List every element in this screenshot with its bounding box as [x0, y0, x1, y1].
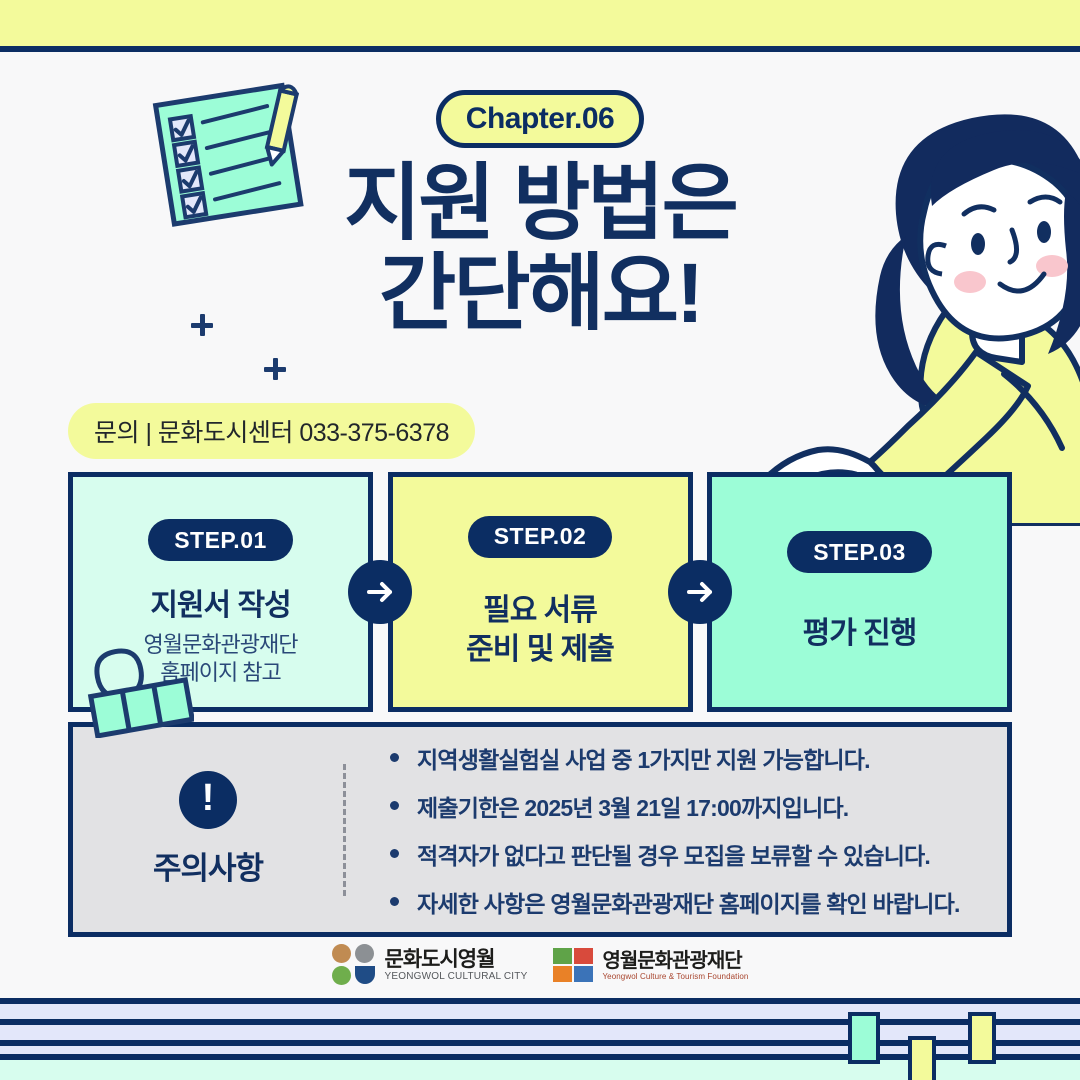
bullet-dot-icon [390, 801, 399, 810]
binder-clip-icon [84, 638, 194, 738]
foundation-logo-mark-icon [553, 948, 593, 982]
page-title: 지원 방법은 간단해요! [0, 162, 1080, 335]
bullet-dot-icon [390, 849, 399, 858]
bottom-decorative-bars [0, 998, 1080, 1080]
step-card-3: STEP.03 평가 진행 [707, 472, 1012, 712]
logo-a-name-en: YEONGWOL CULTURAL CITY [385, 971, 528, 982]
list-item: 적격자가 없다고 판단될 경우 모집을 보류할 수 있습니다. [390, 837, 1007, 871]
bottom-rule [0, 998, 1080, 1004]
notice-heading-group: ! 주의사항 [73, 771, 343, 888]
notice-bullet-text: 제출기한은 2025년 3월 21일 17:00까지입니다. [417, 789, 848, 823]
title-line-2: 간단해요! [0, 252, 1080, 334]
bottom-rule [0, 1019, 1080, 1025]
bottom-chip-yellow [908, 1036, 936, 1080]
step-card-2: STEP.02 필요 서류 준비 및 제출 [388, 472, 693, 712]
step-2-title-line-1: 필요 서류 [483, 592, 597, 630]
bottom-band [0, 1004, 1080, 1019]
logo-b-name-en: Yeongwol Culture & Tourism Foundation [602, 972, 748, 981]
list-item: 제출기한은 2025년 3월 21일 17:00까지입니다. [390, 789, 1007, 823]
step-3-title: 평가 진행 [803, 615, 917, 653]
logo-a-text: 문화도시영월 YEONGWOL CULTURAL CITY [385, 948, 528, 982]
notice-bullet-text: 적격자가 없다고 판단될 경우 모집을 보류할 수 있습니다. [417, 837, 930, 871]
step-3-badge: STEP.03 [787, 531, 932, 573]
logo-b-text: 영월문화관광재단 Yeongwol Culture & Tourism Foun… [602, 950, 748, 981]
chapter-badge: Chapter.06 [436, 90, 644, 148]
notice-bullet-list: 지역생활실험실 사업 중 1가지만 지원 가능합니다. 제출기한은 2025년 … [346, 727, 1007, 933]
list-item: 지역생활실험실 사업 중 1가지만 지원 가능합니다. [390, 741, 1007, 775]
poster-canvas: Chapter.06 지원 방법은 간단해요! 문의 | 문화도시센터 033-… [0, 0, 1080, 1080]
logo-yeongwol-foundation: 영월문화관광재단 Yeongwol Culture & Tourism Foun… [553, 948, 748, 982]
bullet-dot-icon [390, 897, 399, 906]
notice-bullet-text: 지역생활실험실 사업 중 1가지만 지원 가능합니다. [417, 741, 870, 775]
top-accent-bar [0, 0, 1080, 52]
step-2-badge: STEP.02 [468, 516, 613, 558]
step-2-title-line-2: 준비 및 제출 [466, 631, 614, 669]
bottom-chip-mint [848, 1012, 880, 1064]
notice-bullet-text: 자세한 사항은 영월문화관광재단 홈페이지를 확인 바랍니다. [417, 885, 960, 919]
title-line-1: 지원 방법은 [0, 162, 1080, 244]
logo-yeongwol-cultural-city: 문화도시영월 YEONGWOL CULTURAL CITY [332, 944, 528, 986]
step-1-badge: STEP.01 [148, 519, 293, 561]
steps-row: STEP.01 지원서 작성 영월문화관광재단 홈페이지 참고 STEP.02 … [68, 472, 1012, 712]
logo-b-name-ko: 영월문화관광재단 [602, 950, 748, 972]
notice-label: 주의사항 [153, 843, 263, 888]
cultural-city-logo-mark-icon [332, 944, 376, 986]
logo-a-name-ko: 문화도시영월 [385, 948, 528, 971]
contact-banner: 문의 | 문화도시센터 033-375-6378 [68, 403, 475, 459]
list-item: 자세한 사항은 영월문화관광재단 홈페이지를 확인 바랍니다. [390, 885, 1007, 919]
arrow-right-icon [348, 560, 412, 624]
bullet-dot-icon [390, 753, 399, 762]
step-1-title: 지원서 작성 [150, 587, 290, 625]
arrow-right-icon [668, 560, 732, 624]
footer-logos: 문화도시영월 YEONGWOL CULTURAL CITY 영월문화관광재단 Y… [0, 944, 1080, 986]
exclamation-circle-icon: ! [179, 771, 237, 829]
bottom-chip-yellow [968, 1012, 996, 1064]
notice-panel: ! 주의사항 지역생활실험실 사업 중 1가지만 지원 가능합니다. 제출기한은… [68, 722, 1012, 937]
